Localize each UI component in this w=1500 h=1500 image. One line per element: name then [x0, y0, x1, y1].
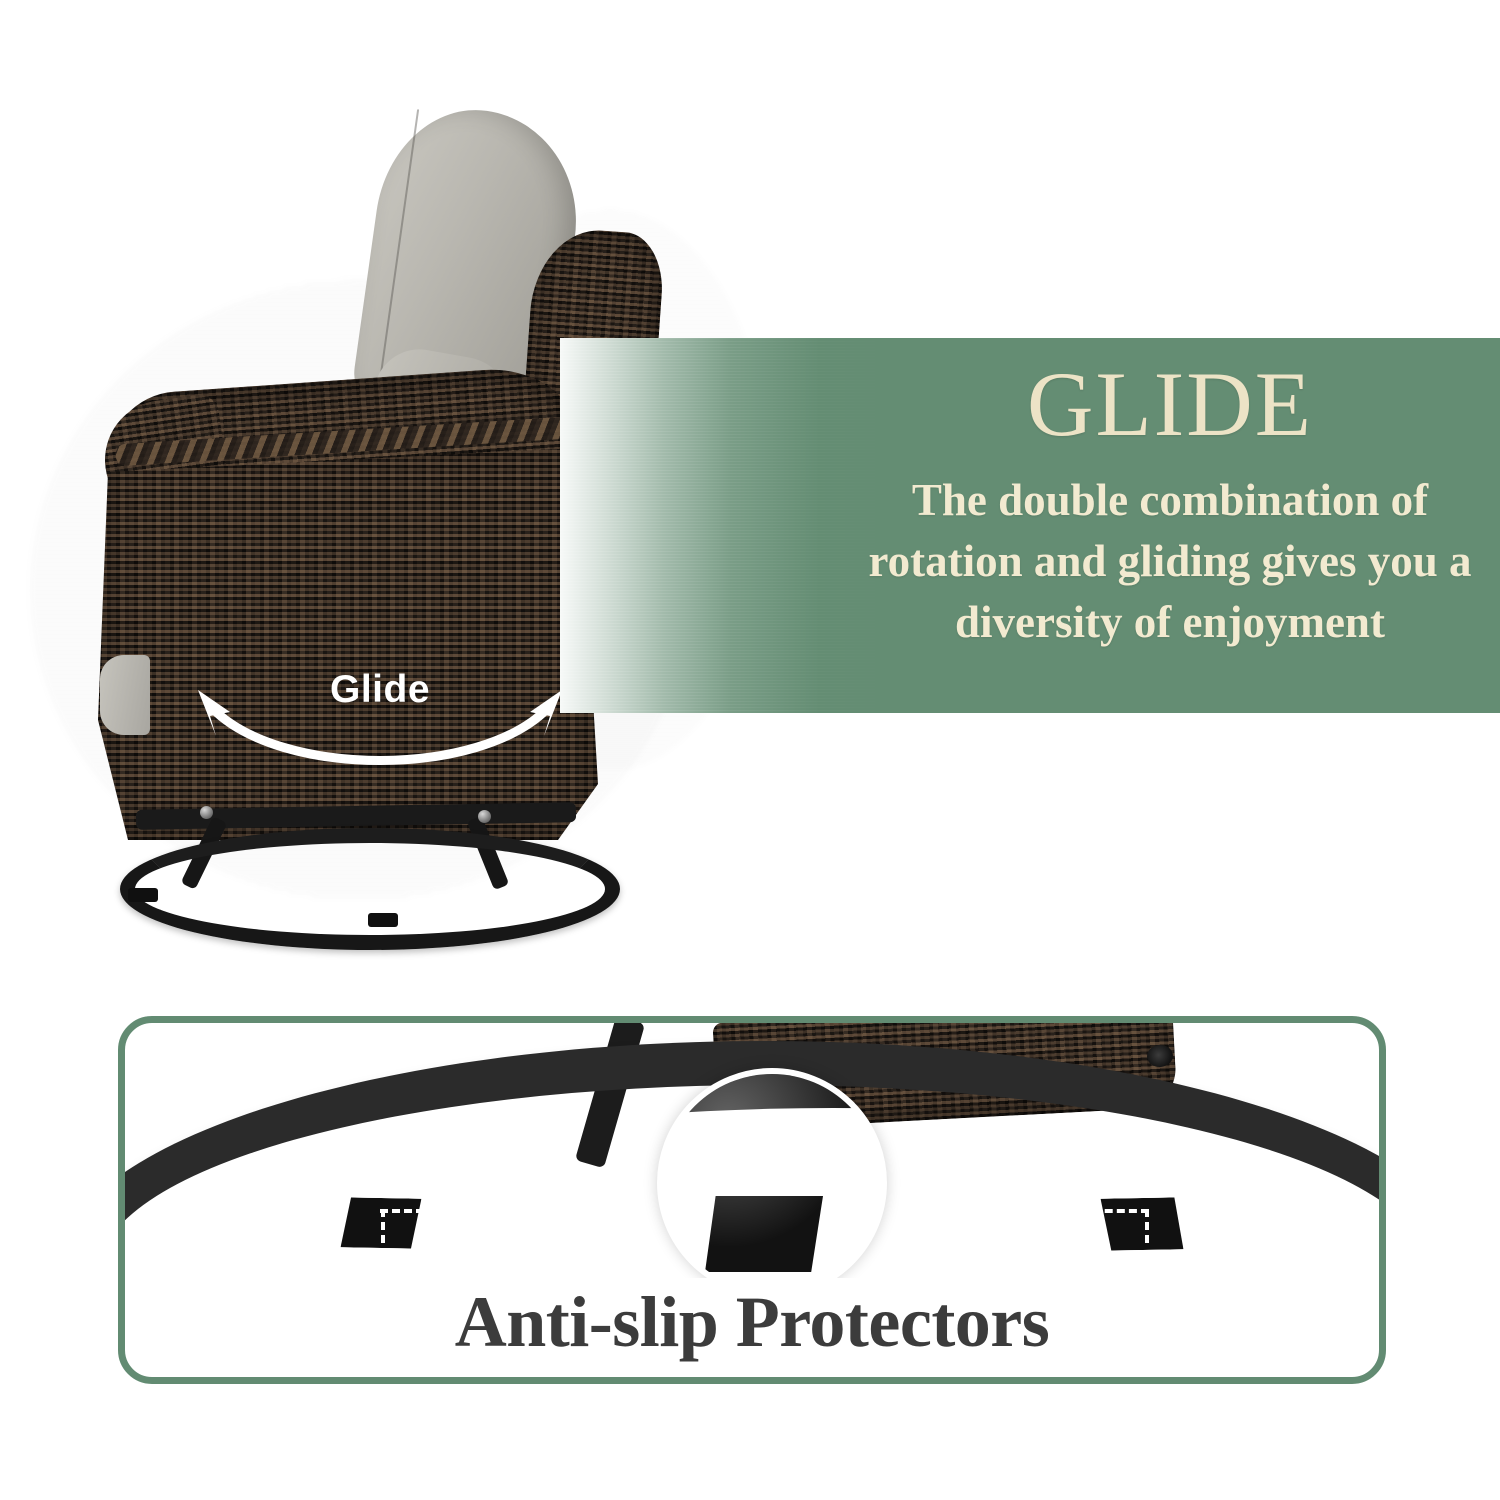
base-protector-foot-left	[128, 888, 158, 902]
glide-feature-section: Glide GLIDE The double combination of ro…	[0, 0, 1500, 1000]
feature-panel-text: GLIDE The double combination of rotation…	[860, 356, 1480, 653]
panel-left-fade	[560, 338, 820, 713]
anti-slip-protector-right	[1101, 1197, 1184, 1250]
dashed-tick-right	[1145, 1209, 1149, 1243]
base-detail-photo	[125, 1023, 1379, 1278]
dashed-tick-left	[381, 1209, 385, 1243]
anti-slip-detail-card: Anti-slip Protectors	[118, 1016, 1386, 1384]
feature-subtitle: The double combination of rotation and g…	[860, 470, 1480, 653]
anti-slip-caption: Anti-slip Protectors	[125, 1281, 1379, 1364]
base-screw-left	[200, 806, 213, 819]
base-protector-foot-center	[368, 913, 398, 927]
base-screw-right	[478, 810, 491, 823]
seat-cushion-edge	[100, 655, 150, 735]
dashed-guide-left	[380, 1209, 700, 1213]
feature-title: GLIDE	[860, 356, 1480, 452]
swivel-glider-base	[100, 800, 640, 920]
dashed-guide-right	[887, 1209, 1149, 1213]
glide-arrow-label: Glide	[160, 668, 600, 712]
magnified-protector-foot	[705, 1196, 823, 1272]
panel-motion-streaks	[560, 338, 890, 713]
feature-panel: GLIDE The double combination of rotation…	[560, 338, 1500, 713]
base-swivel-ring	[120, 828, 620, 950]
glide-annotation: Glide	[160, 640, 600, 780]
magnifier-circle-icon	[657, 1068, 887, 1278]
